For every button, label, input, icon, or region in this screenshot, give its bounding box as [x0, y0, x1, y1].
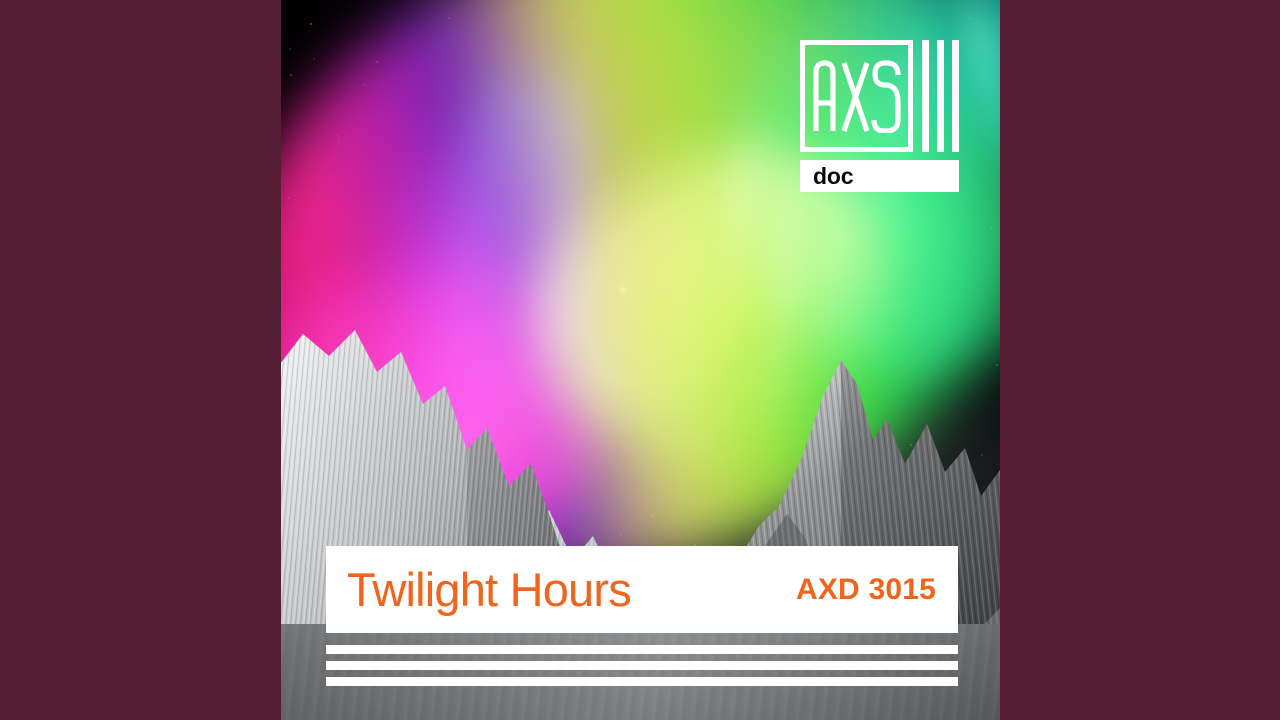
- logo-bar-2: [937, 40, 944, 152]
- rule-bar-2: [326, 661, 958, 670]
- foreground-glacier: [281, 624, 1000, 720]
- axs-logo-lockup[interactable]: doc: [800, 40, 959, 192]
- glacier-streaks: [281, 624, 1000, 720]
- logo-top-row: [800, 40, 959, 152]
- axs-wordmark-box: [800, 40, 913, 152]
- doc-badge-label: doc: [800, 165, 853, 188]
- album-title: Twilight Hours: [347, 566, 631, 613]
- logo-bar-3: [952, 40, 959, 152]
- catalog-number: AXD 3015: [796, 575, 936, 605]
- rule-bar-3: [326, 677, 958, 686]
- logo-bar-1: [922, 40, 929, 152]
- doc-badge: doc: [800, 160, 959, 192]
- rule-bar-1: [326, 645, 958, 654]
- album-artwork: doc Twilight Hours AXD 3015: [281, 0, 1000, 720]
- title-panel: Twilight Hours AXD 3015: [326, 546, 958, 633]
- screenshot-stage: doc Twilight Hours AXD 3015: [0, 0, 1280, 720]
- axs-wordmark-icon: [811, 59, 903, 133]
- logo-bars-icon: [922, 40, 959, 152]
